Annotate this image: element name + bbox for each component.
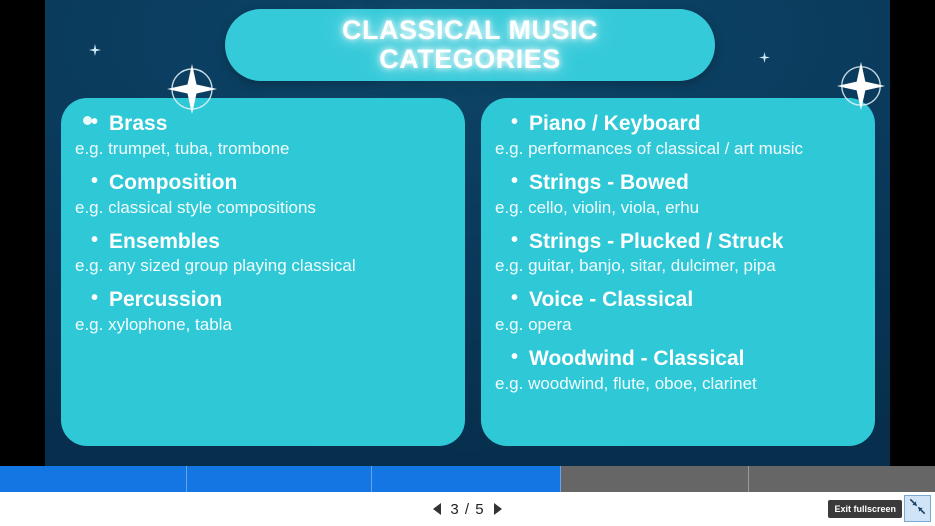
- presentation-viewer: CLASSICAL MUSIC CATEGORIES Brass e.g. tr…: [0, 0, 935, 526]
- pagination-control: 3 / 5: [433, 501, 501, 518]
- left-entry-2: Ensembles e.g. any sized group playing c…: [75, 228, 451, 278]
- category-heading: Strings - Plucked / Struck: [495, 228, 861, 256]
- progress-segment-5[interactable]: [749, 466, 935, 492]
- progress-segment-4[interactable]: [561, 466, 749, 492]
- left-entry-1: Composition e.g. classical style composi…: [75, 169, 451, 219]
- category-example: e.g. guitar, banjo, sitar, dulcimer, pip…: [495, 255, 861, 277]
- page-indicator: 3 / 5: [450, 501, 484, 518]
- left-entry-0: Brass e.g. trumpet, tuba, trombone: [75, 110, 451, 160]
- right-entry-0: Piano / Keyboard e.g. performances of cl…: [495, 110, 861, 160]
- category-heading: Piano / Keyboard: [495, 110, 861, 138]
- left-category-card: Brass e.g. trumpet, tuba, trombone Compo…: [61, 98, 465, 446]
- title-line-1: CLASSICAL MUSIC: [342, 16, 598, 45]
- fullscreen-tooltip: Exit fullscreen: [828, 500, 902, 518]
- slide-title-banner: CLASSICAL MUSIC CATEGORIES: [225, 9, 715, 81]
- category-example: e.g. opera: [495, 314, 861, 336]
- page-title: CLASSICAL MUSIC CATEGORIES: [342, 16, 598, 74]
- next-page-icon[interactable]: [494, 503, 502, 515]
- slide-progress-bar[interactable]: [0, 466, 935, 492]
- category-example: e.g. performances of classical / art mus…: [495, 138, 861, 160]
- exit-fullscreen-button[interactable]: [904, 495, 931, 522]
- category-example: e.g. trumpet, tuba, trombone: [75, 138, 451, 160]
- right-entry-3: Voice - Classical e.g. opera: [495, 286, 861, 336]
- category-heading: Composition: [75, 169, 451, 197]
- category-heading: Ensembles: [75, 228, 451, 256]
- category-example: e.g. any sized group playing classical: [75, 255, 451, 277]
- previous-page-icon[interactable]: [433, 503, 441, 515]
- category-example: e.g. cello, violin, viola, erhu: [495, 197, 861, 219]
- category-example: e.g. classical style compositions: [75, 197, 451, 219]
- fullscreen-control-group: Exit fullscreen: [828, 495, 931, 522]
- right-entry-1: Strings - Bowed e.g. cello, violin, viol…: [495, 169, 861, 219]
- category-example: e.g. xylophone, tabla: [75, 314, 451, 336]
- viewer-toolbar: 3 / 5 Exit fullscreen: [0, 492, 935, 526]
- exit-fullscreen-icon: [909, 498, 926, 520]
- left-entry-3: Percussion e.g. xylophone, tabla: [75, 286, 451, 336]
- progress-segment-2[interactable]: [187, 466, 372, 492]
- right-entry-2: Strings - Plucked / Struck e.g. guitar, …: [495, 228, 861, 278]
- right-entry-4: Woodwind - Classical e.g. woodwind, flut…: [495, 345, 861, 395]
- category-example: e.g. woodwind, flute, oboe, clarinet: [495, 373, 861, 395]
- slide-stage: CLASSICAL MUSIC CATEGORIES Brass e.g. tr…: [45, 0, 890, 466]
- category-heading: Percussion: [75, 286, 451, 314]
- progress-segment-1[interactable]: [0, 466, 187, 492]
- category-heading: Brass: [75, 110, 451, 138]
- right-category-card: Piano / Keyboard e.g. performances of cl…: [481, 98, 875, 446]
- progress-segment-3[interactable]: [372, 466, 561, 492]
- title-line-2: CATEGORIES: [342, 45, 598, 74]
- category-heading: Strings - Bowed: [495, 169, 861, 197]
- category-heading: Woodwind - Classical: [495, 345, 861, 373]
- category-heading: Voice - Classical: [495, 286, 861, 314]
